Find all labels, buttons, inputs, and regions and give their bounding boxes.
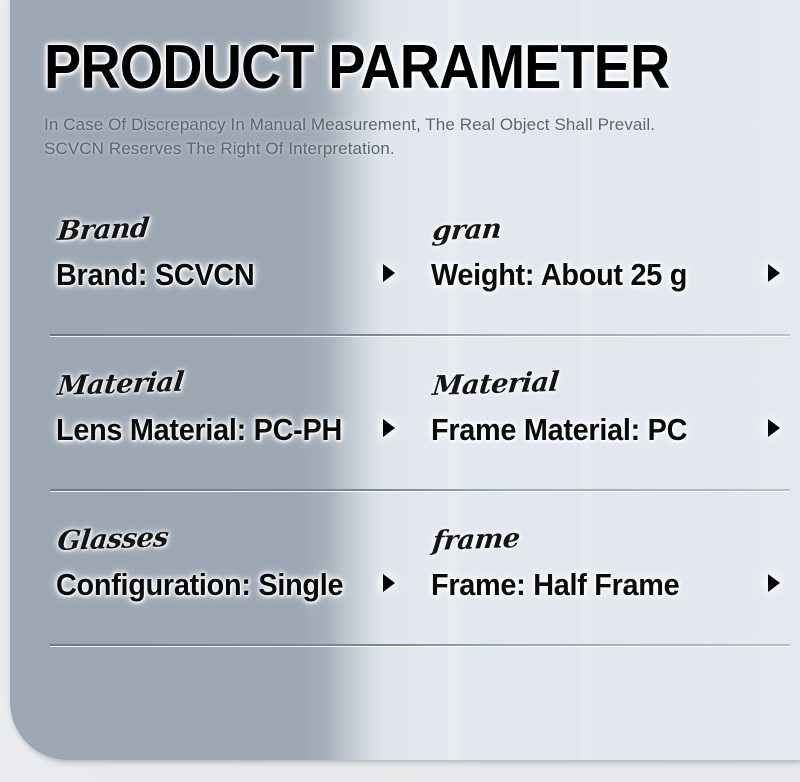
spec-script-label: Material xyxy=(431,367,560,402)
row-divider xyxy=(50,334,790,336)
triangle-right-icon xyxy=(383,264,395,282)
row-divider xyxy=(50,644,790,646)
spec-item-frame-material: Material Frame Material: PC xyxy=(403,361,800,516)
disclaimer-text: In Case Of Discrepancy In Manual Measure… xyxy=(44,113,770,162)
triangle-right-icon xyxy=(768,264,780,282)
spec-item-configuration: Glasses Configuration: Single xyxy=(10,516,403,671)
disclaimer-line-2: SCVCN Reserves The Right Of Interpretati… xyxy=(44,137,770,162)
spec-item-weight: gran Weight: About 25 g xyxy=(403,206,800,361)
spec-value: Frame Material: PC xyxy=(431,414,774,447)
spec-script-label: frame xyxy=(431,523,521,557)
spec-row: Brand Brand: SCVCN gran Weight: About 25… xyxy=(10,206,800,361)
spec-item-brand: Brand Brand: SCVCN xyxy=(10,206,403,361)
product-parameter-panel: PRODUCT PARAMETER In Case Of Discrepancy… xyxy=(10,0,800,760)
spec-item-lens-material: Material Lens Material: PC-PH xyxy=(10,361,403,516)
triangle-right-icon xyxy=(383,574,395,592)
spec-row: Material Lens Material: PC-PH Material F… xyxy=(10,361,800,516)
spec-row: Glasses Configuration: Single frame Fram… xyxy=(10,516,800,671)
spec-list: Brand Brand: SCVCN gran Weight: About 25… xyxy=(10,206,800,671)
spec-value: Frame: Half Frame xyxy=(431,569,774,602)
header: PRODUCT PARAMETER In Case Of Discrepancy… xyxy=(44,38,770,162)
spec-script-label: Material xyxy=(56,367,185,402)
disclaimer-line-1: In Case Of Discrepancy In Manual Measure… xyxy=(44,113,770,138)
spec-value: Configuration: Single xyxy=(56,569,379,602)
triangle-right-icon xyxy=(768,574,780,592)
spec-script-label: Glasses xyxy=(56,522,170,557)
triangle-right-icon xyxy=(768,419,780,437)
row-divider xyxy=(50,489,790,491)
triangle-right-icon xyxy=(383,419,395,437)
spec-script-label: gran xyxy=(431,214,503,247)
spec-item-frame: frame Frame: Half Frame xyxy=(403,516,800,671)
spec-value: Brand: SCVCN xyxy=(56,259,379,292)
spec-value: Weight: About 25 g xyxy=(431,259,774,292)
spec-value: Lens Material: PC-PH xyxy=(56,414,379,447)
spec-script-label: Brand xyxy=(56,213,150,247)
page-title: PRODUCT PARAMETER xyxy=(44,38,697,99)
